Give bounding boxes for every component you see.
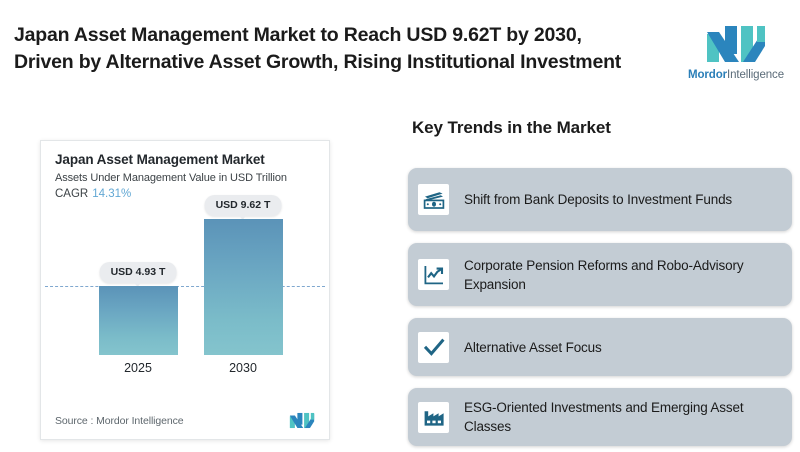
mordor-logo-mark-icon [705,24,767,64]
page-headline: Japan Asset Management Market to Reach U… [14,22,664,76]
headline-line-1: Japan Asset Management Market to Reach U… [14,22,664,49]
chart-plot-area: USD 4.93 T 2025 USD 9.62 T 2030 [41,203,329,393]
chart-cagr: CAGR14.31% [55,188,131,200]
chart-source-text: Source : Mordor Intelligence [55,415,184,427]
banknote-icon [418,184,449,215]
bar-value-badge-2025: USD 4.93 T [100,262,177,283]
trend-card-1-label: Shift from Bank Deposits to Investment F… [464,190,742,209]
x-axis-label-2030: 2030 [203,361,283,375]
reference-dashed-line [45,286,325,287]
trend-card-2[interactable]: Corporate Pension Reforms and Robo-Advis… [408,243,792,306]
factory-icon [418,402,449,433]
brand-name: Mordor [688,69,727,81]
brand-logo-text: MordorIntelligence [688,69,784,81]
brand-logo: MordorIntelligence [683,8,789,96]
mordor-logo-mark-small-icon [289,412,315,429]
x-axis-label-2025: 2025 [98,361,178,375]
bar-2025 [99,286,178,355]
cagr-value: 14.31% [92,188,131,200]
trend-card-3-label: Alternative Asset Focus [464,338,612,357]
check-icon [418,332,449,363]
chart-subtitle: Assets Under Management Value in USD Tri… [55,172,287,184]
bar-2030 [204,219,283,355]
headline-line-2: Driven by Alternative Asset Growth, Risi… [14,49,664,76]
chart-source-row: Source : Mordor Intelligence [55,412,315,429]
trend-card-3[interactable]: Alternative Asset Focus [408,318,792,376]
trend-card-4[interactable]: ESG-Oriented Investments and Emerging As… [408,388,792,446]
bar-value-badge-2030: USD 9.62 T [205,195,282,216]
trend-card-1[interactable]: Shift from Bank Deposits to Investment F… [408,168,792,231]
trend-card-4-label: ESG-Oriented Investments and Emerging As… [464,398,792,436]
cagr-label: CAGR [55,188,88,200]
chart-title: Japan Asset Management Market [55,152,265,167]
brand-suffix: Intelligence [727,69,784,81]
chart-card: Japan Asset Management Market Assets Und… [40,140,330,440]
panel-title: Key Trends in the Market [412,118,611,138]
line-chart-up-icon [418,259,449,290]
page-header: Japan Asset Management Market to Reach U… [0,0,800,105]
trend-card-2-label: Corporate Pension Reforms and Robo-Advis… [464,256,792,294]
